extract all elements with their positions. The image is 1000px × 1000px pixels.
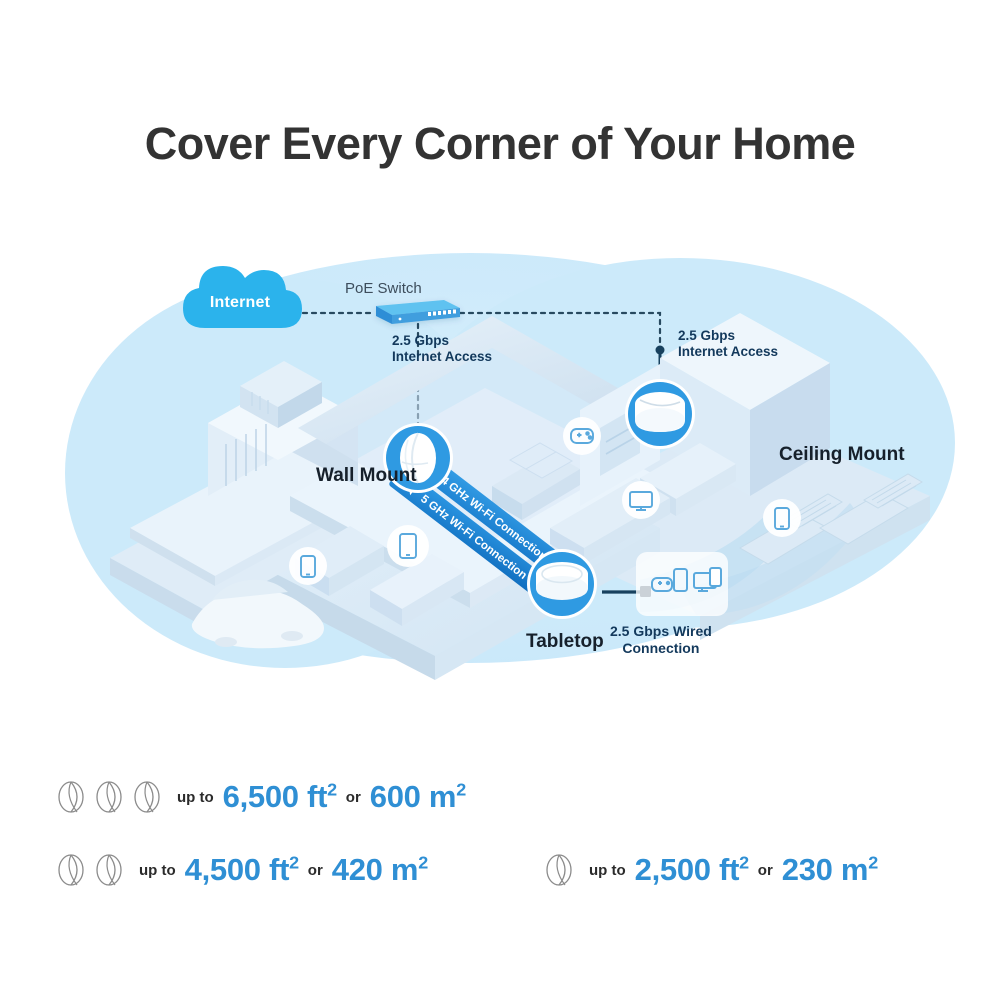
coverage-sqm-number: 230 m <box>782 852 868 887</box>
coverage-or-label: or <box>346 789 361 806</box>
client-monitor-bubble <box>622 481 660 519</box>
wall-mount-label: Wall Mount <box>316 465 417 487</box>
wired-connection-label: 2.5 Gbps Wired Connection <box>610 623 712 656</box>
coverage-upto-label: up to <box>139 862 176 879</box>
internet-cloud-label: Internet <box>190 294 290 312</box>
coverage-sqft-value: 2,500 ft2 <box>635 852 749 888</box>
client-phone-bubble-pool <box>763 499 801 537</box>
access-right-line1: 2.5 Gbps <box>678 328 735 343</box>
ap-unit-outline-icon <box>133 780 165 814</box>
access-left-line2: Internet Access <box>392 349 492 364</box>
tabletop-ap-icon <box>527 549 597 619</box>
client-tablet-bubble <box>387 525 429 567</box>
coverage-sqm-sup: 2 <box>456 780 466 800</box>
poe-switch-label: PoE Switch <box>345 280 422 298</box>
coverage-sqft-value: 6,500 ft2 <box>223 779 337 815</box>
page-title: Cover Every Corner of Your Home <box>0 118 1000 170</box>
ap-unit-outline-icon <box>95 780 127 814</box>
coverage-row-3-pack: up to 6,500 ft2 or 600 m2 <box>57 779 466 815</box>
coverage-sqm-value: 230 m2 <box>782 852 878 888</box>
coverage-sqft-number: 6,500 ft <box>223 779 327 814</box>
coverage-unit-icons-3 <box>57 780 165 814</box>
coverage-or-label: or <box>758 862 773 879</box>
ceiling-mount-label: Ceiling Mount <box>779 444 905 466</box>
coverage-upto-label: up to <box>589 862 626 879</box>
coverage-sqm-sup: 2 <box>868 853 878 873</box>
client-gamepad-bubble <box>563 417 601 455</box>
coverage-sqm-value: 600 m2 <box>370 779 466 815</box>
coverage-upto-label: up to <box>177 789 214 806</box>
ap-unit-outline-icon <box>95 853 127 887</box>
access-left-line1: 2.5 Gbps <box>392 333 449 348</box>
coverage-sqft-sup: 2 <box>289 853 299 873</box>
internet-access-label-right: 2.5 Gbps Internet Access <box>678 328 778 360</box>
coverage-sqm-value: 420 m2 <box>332 852 428 888</box>
coverage-sqm-sup: 2 <box>418 853 428 873</box>
coverage-sqft-sup: 2 <box>327 780 337 800</box>
home-coverage-diagram: 2.4 GHz Wi-Fi Connection 5 GHz Wi-Fi Con… <box>40 228 960 698</box>
wired-line2: Connection <box>622 640 699 656</box>
access-right-line2: Internet Access <box>678 344 778 359</box>
coverage-unit-icons-1 <box>545 853 577 887</box>
coverage-sqft-number: 4,500 ft <box>185 852 289 887</box>
coverage-row-1-pack: up to 2,500 ft2 or 230 m2 <box>545 852 878 888</box>
coverage-or-label: or <box>308 862 323 879</box>
coverage-sqft-value: 4,500 ft2 <box>185 852 299 888</box>
tabletop-label: Tabletop <box>526 631 604 653</box>
coverage-row-2-pack: up to 4,500 ft2 or 420 m2 <box>57 852 428 888</box>
coverage-sqm-number: 600 m <box>370 779 456 814</box>
coverage-sqft-number: 2,500 ft <box>635 852 739 887</box>
coverage-sqft-sup: 2 <box>739 853 749 873</box>
client-phone-bubble-left <box>289 547 327 585</box>
internet-access-label-left: 2.5 Gbps Internet Access <box>392 333 492 365</box>
ap-unit-outline-icon <box>57 853 89 887</box>
wired-line1: 2.5 Gbps Wired <box>610 623 712 639</box>
coverage-sqm-number: 420 m <box>332 852 418 887</box>
coverage-unit-icons-2 <box>57 853 127 887</box>
ap-unit-outline-icon <box>57 780 89 814</box>
ceiling-mount-ap-icon <box>625 379 695 449</box>
ap-unit-outline-icon <box>545 853 577 887</box>
